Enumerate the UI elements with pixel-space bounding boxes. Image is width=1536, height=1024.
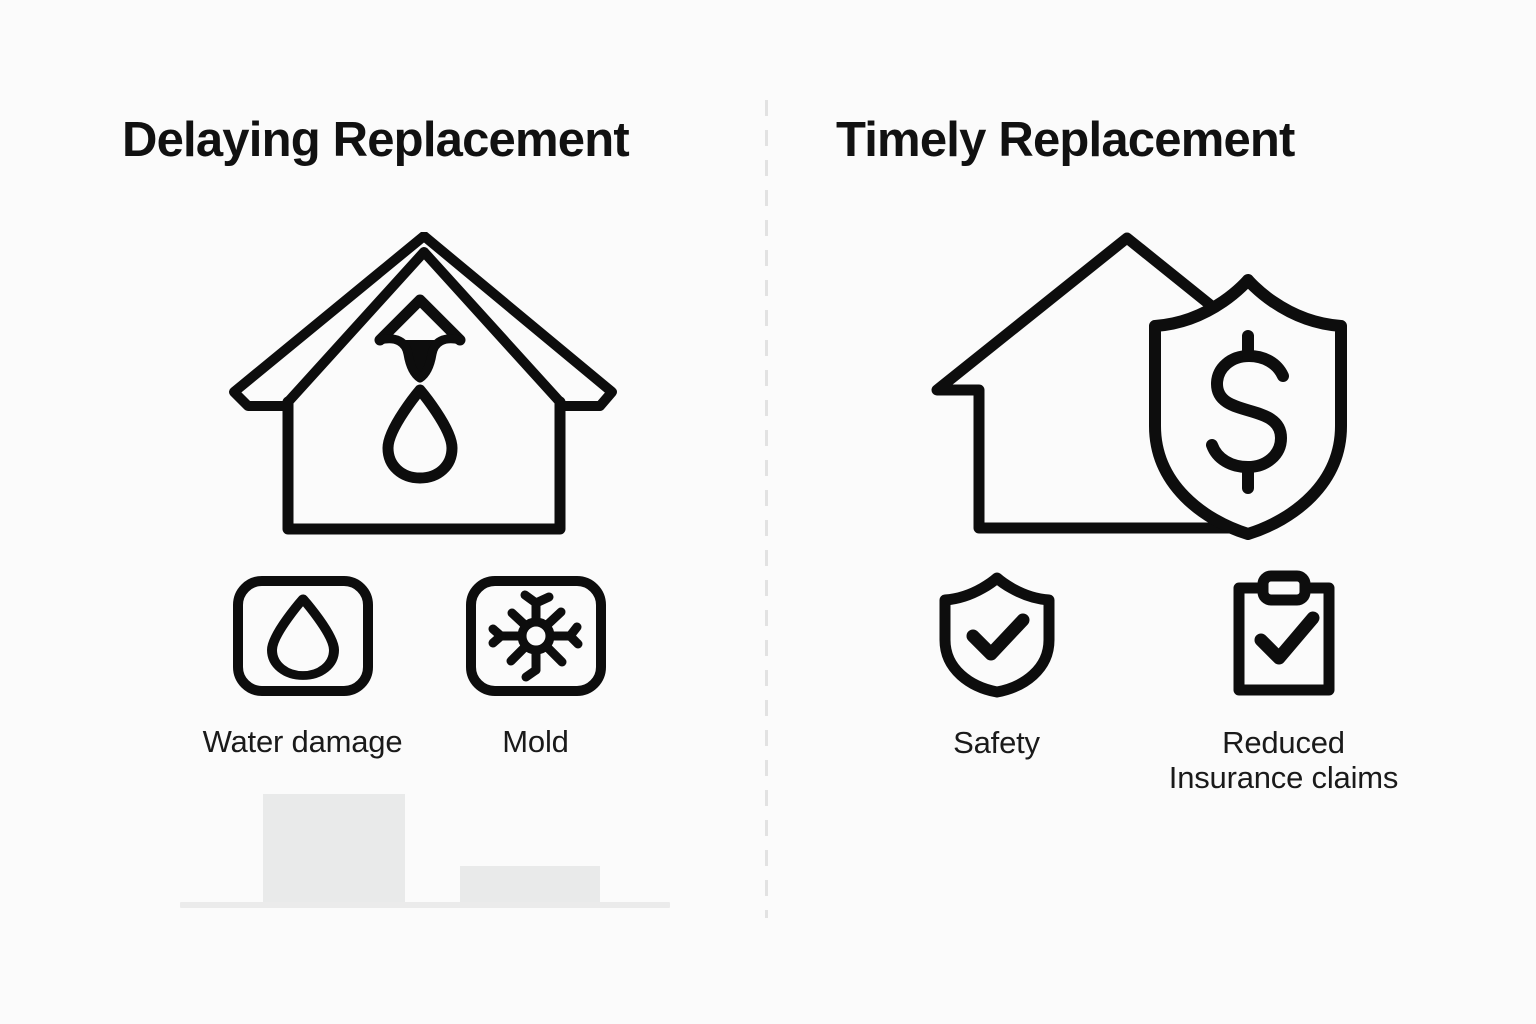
infographic-canvas: Delaying Replacement xyxy=(0,0,1536,1024)
panel-divider xyxy=(765,100,768,918)
delaying-bars-chart xyxy=(160,780,700,920)
mold-spore-icon xyxy=(418,575,653,702)
benefit-label-safety: Safety xyxy=(864,725,1129,760)
benefit-item-safety[interactable]: Safety xyxy=(864,570,1129,760)
benefit-label-reduced-insurance-claims: Reduced Insurance claims xyxy=(1096,725,1471,796)
chart-bar-mold xyxy=(460,866,600,904)
panel-delaying-replacement: Delaying Replacement xyxy=(0,0,766,1024)
risk-item-mold[interactable]: Mold xyxy=(418,575,653,759)
benefit-items-row: Safety Reduced Insurance claims xyxy=(766,570,1536,830)
shield-check-icon xyxy=(864,570,1129,703)
chart-bar-water-damage xyxy=(263,794,405,904)
risk-item-water-damage[interactable]: Water damage xyxy=(175,575,430,759)
panel-title-timely: Timely Replacement xyxy=(836,112,1295,168)
risk-label-mold: Mold xyxy=(418,724,653,759)
clipboard-check-icon xyxy=(1096,570,1471,703)
panel-timely-replacement: Timely Replacement xyxy=(766,0,1536,1024)
house-with-roof-leak-illustration xyxy=(228,232,618,542)
risk-label-water-damage: Water damage xyxy=(175,724,430,759)
chart-baseline xyxy=(180,902,670,908)
panel-title-delaying: Delaying Replacement xyxy=(122,112,629,168)
house-leak-icon xyxy=(228,232,618,542)
house-with-dollar-shield-illustration xyxy=(921,230,1366,542)
benefit-item-reduced-insurance-claims[interactable]: Reduced Insurance claims xyxy=(1096,570,1471,796)
water-drop-icon xyxy=(175,575,430,702)
house-shield-dollar-icon xyxy=(921,230,1366,542)
